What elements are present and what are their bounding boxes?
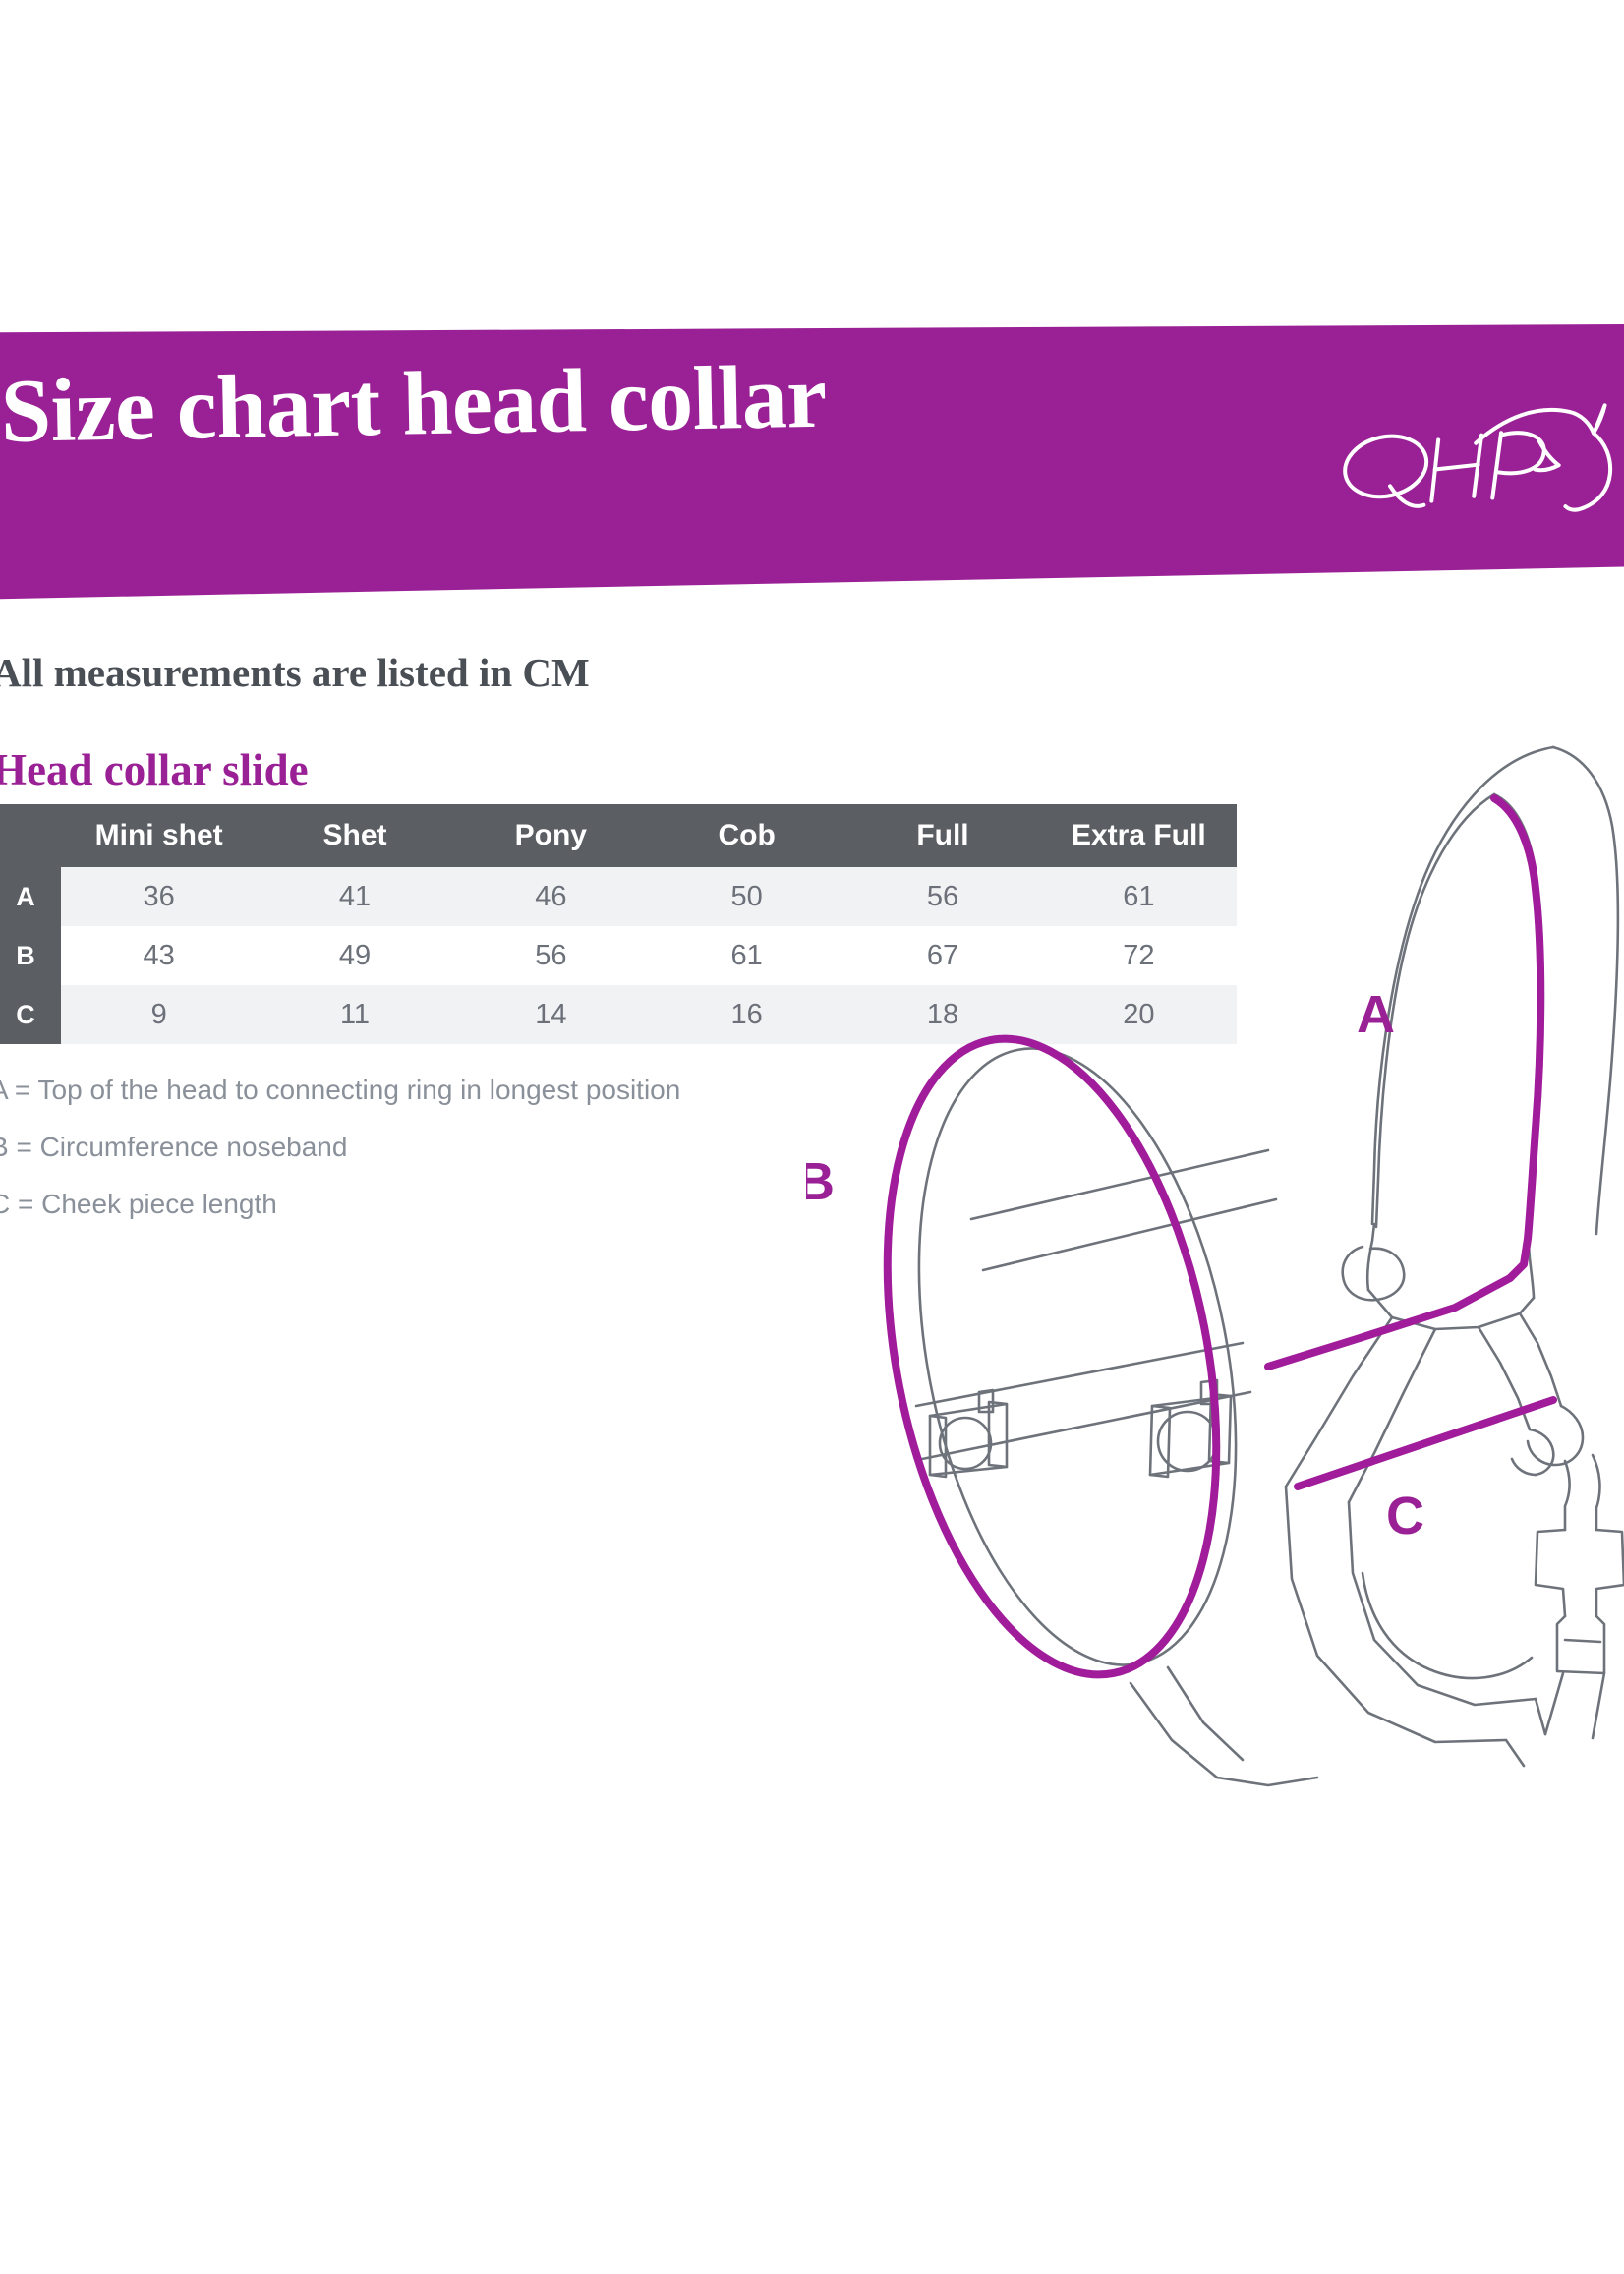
cell-b-shet: 49 (257, 926, 452, 985)
measurement-line-b (838, 1011, 1265, 1703)
cell-a-shet: 41 (257, 867, 452, 926)
table-corner-cell (0, 804, 61, 867)
legend-item-c: C = Cheek piece length (0, 1191, 875, 1218)
cell-a-mini-shet: 36 (61, 867, 257, 926)
cell-c-shet: 11 (257, 985, 452, 1044)
measurement-line-c (1298, 1400, 1553, 1487)
label-a: A (1357, 985, 1395, 1044)
halter-outline (836, 747, 1624, 1785)
label-c: C (1386, 1487, 1424, 1545)
column-header-mini-shet: Mini shet (61, 804, 257, 867)
label-b: B (806, 1152, 835, 1211)
header-banner: Size chart head collar (0, 324, 1624, 600)
measurement-line-a (1494, 798, 1540, 1278)
measurement-unit-note: All measurements are listed in CM (0, 649, 590, 696)
qhp-logo (1327, 376, 1624, 528)
cell-c-pony: 14 (453, 985, 649, 1044)
cell-b-mini-shet: 43 (61, 926, 257, 985)
cell-a-pony: 46 (453, 867, 649, 926)
column-header-pony: Pony (453, 804, 649, 867)
cell-b-pony: 56 (453, 926, 649, 985)
measurement-legend: A = Top of the head to connecting ring i… (0, 1077, 875, 1248)
head-collar-diagram: A B C (806, 688, 1624, 1868)
row-label-b: B (0, 926, 61, 985)
legend-item-a: A = Top of the head to connecting ring i… (0, 1077, 875, 1104)
column-header-shet: Shet (257, 804, 452, 867)
row-label-a: A (0, 867, 61, 926)
row-label-c: C (0, 985, 61, 1044)
cell-c-mini-shet: 9 (61, 985, 257, 1044)
section-title: Head collar slide (0, 744, 309, 795)
measurement-lines (838, 798, 1553, 1703)
legend-item-b: B = Circumference noseband (0, 1134, 875, 1161)
